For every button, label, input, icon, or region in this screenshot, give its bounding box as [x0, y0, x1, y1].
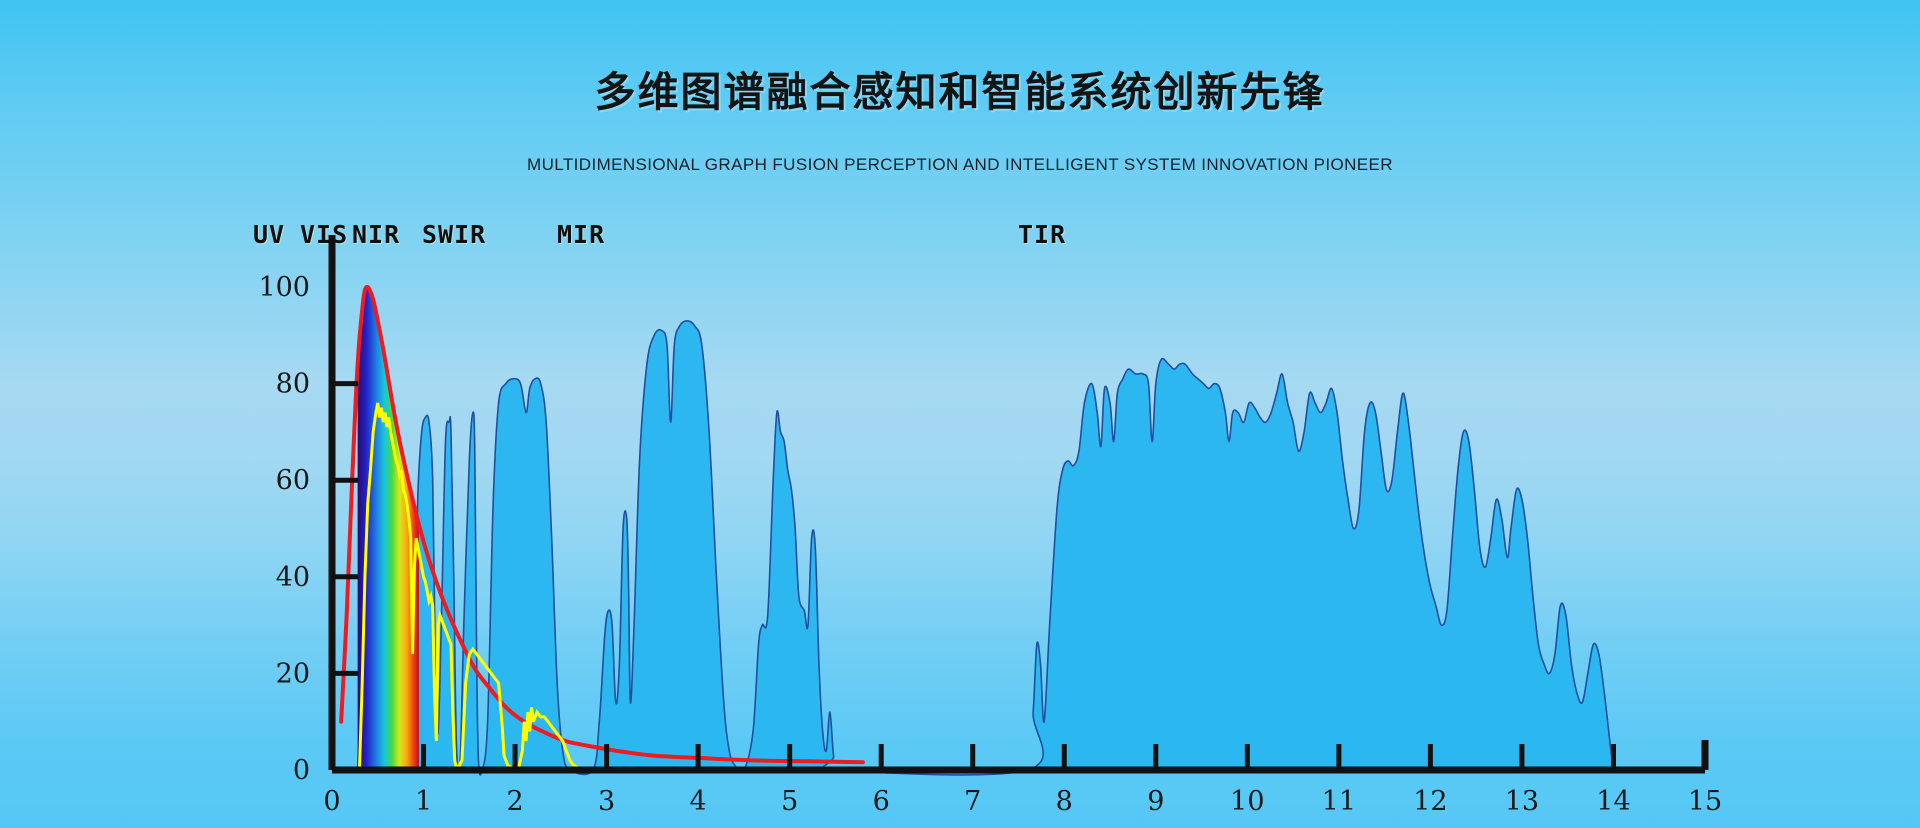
x-tick-label: 14 — [1596, 786, 1630, 817]
y-tick-label: 0 — [293, 755, 310, 786]
x-tick-label: 4 — [690, 786, 707, 817]
x-tick-label: 0 — [323, 786, 340, 817]
x-tick-label: 8 — [1056, 786, 1073, 817]
x-tick-label: 12 — [1413, 786, 1447, 817]
y-tick-label: 100 — [258, 272, 310, 303]
x-tick-label: 10 — [1230, 786, 1264, 817]
x-tick-label: 11 — [1322, 786, 1356, 817]
spectral-transmission-chart: 0123456789101112131415 020406080100 — [0, 0, 1920, 828]
y-tick-label: 60 — [276, 465, 310, 496]
y-axis-tick-labels: 020406080100 — [258, 272, 310, 786]
x-tick-label: 15 — [1688, 786, 1722, 817]
x-tick-label: 7 — [964, 786, 981, 817]
transmission-area — [358, 321, 1614, 775]
y-tick-label: 80 — [276, 369, 310, 400]
x-tick-label: 3 — [598, 786, 615, 817]
y-tick-label: 20 — [276, 658, 310, 689]
x-tick-label: 6 — [873, 786, 890, 817]
x-tick-label: 2 — [506, 786, 523, 817]
x-tick-label: 9 — [1147, 786, 1164, 817]
y-tick-label: 40 — [276, 562, 310, 593]
x-tick-label: 1 — [415, 786, 432, 817]
x-tick-label: 5 — [781, 786, 798, 817]
x-axis-tick-labels: 0123456789101112131415 — [323, 786, 1722, 817]
poster-canvas: 多维图谱融合感知和智能系统创新先锋 MULTIDIMENSIONAL GRAPH… — [0, 0, 1920, 828]
x-tick-label: 13 — [1505, 786, 1539, 817]
